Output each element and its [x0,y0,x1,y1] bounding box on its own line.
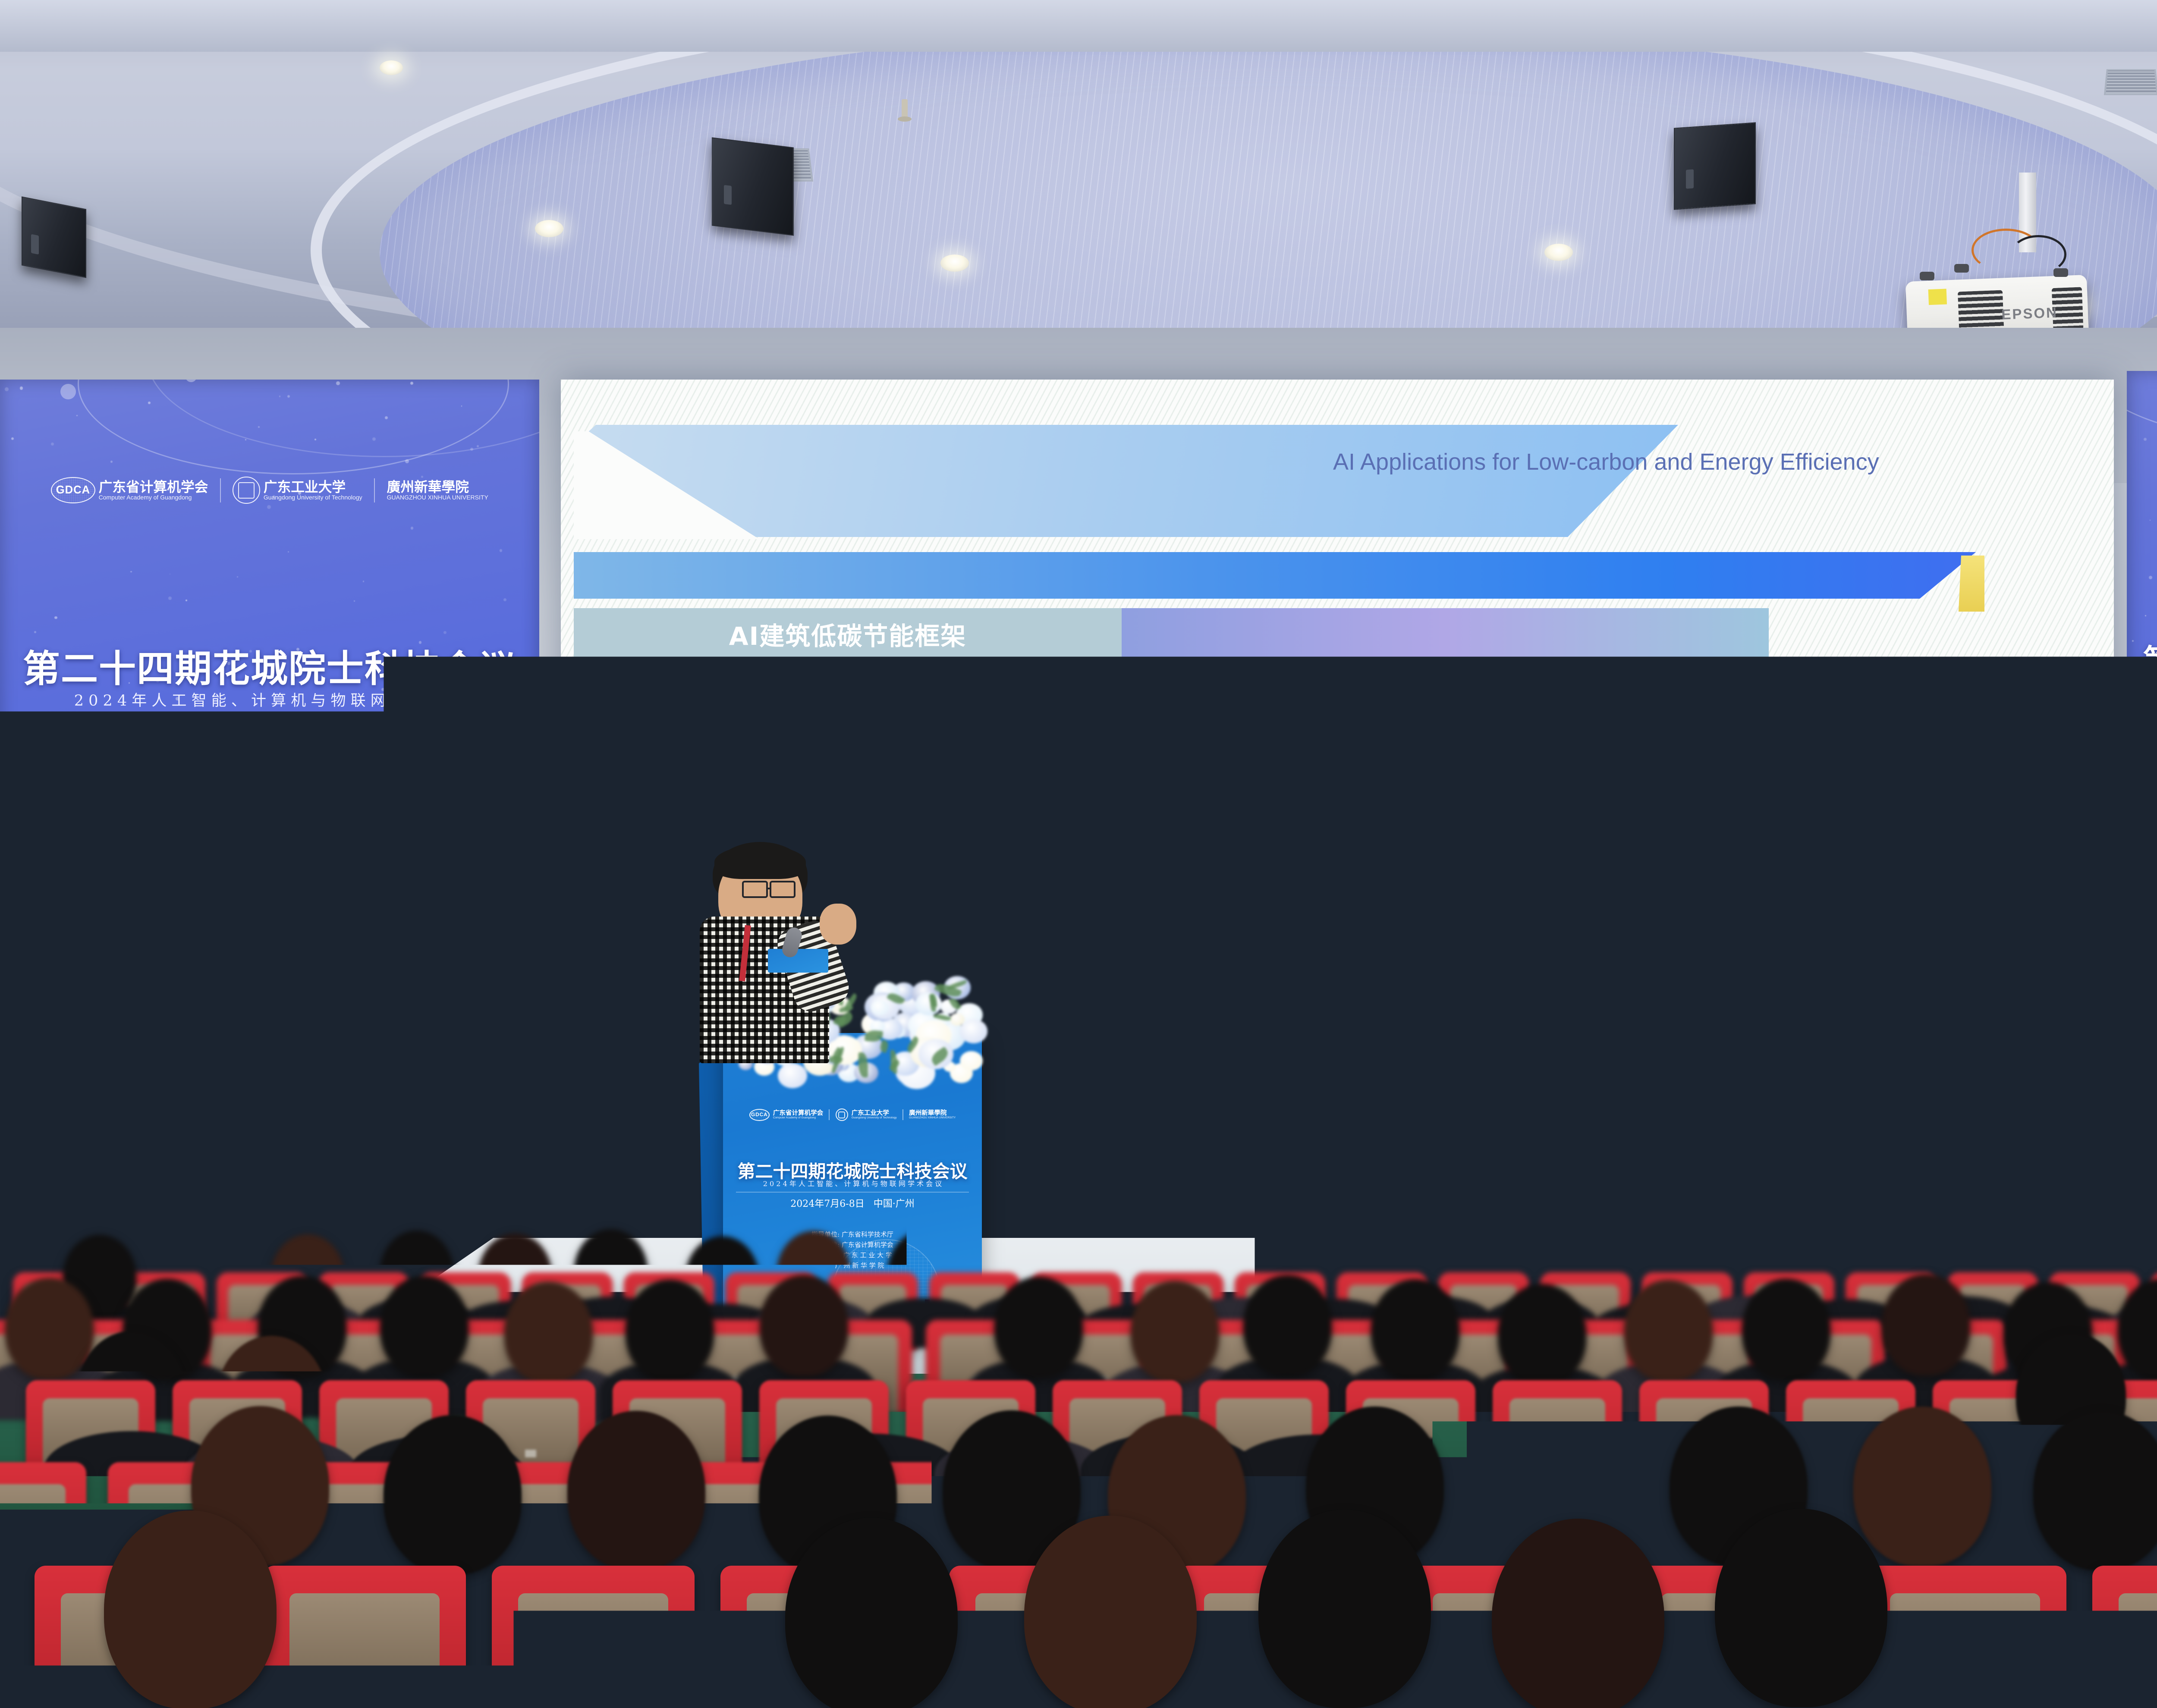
banner-title: 第二十四期花城院士科技会议 [2127,636,2157,680]
flower [960,1019,988,1043]
ceiling-speaker-icon [712,137,794,235]
agent-label: agent [1929,1014,1966,1029]
glasses-bridge [767,888,771,889]
nn-node [1726,811,1745,830]
out-to-agents-arrow-lower [1922,1146,1929,1152]
name-badge [768,949,828,973]
agent-arrow-in [1895,926,1901,933]
organizer-line: 主办单位: 广东省计算机学会 [2127,803,2157,821]
signal-t-wet: Twet [1098,817,1128,839]
partner-logo-text: 广东工业大学Guangdong University of Technology [264,480,362,501]
banner-date: 2024年7月6-8日 [134,736,288,760]
partner-logo: GDCA广东省计算机学会Computer Academy of Guangdon… [51,477,208,503]
speaker-person [677,832,902,1074]
podium-date: 2024年7月6-8日 [790,1199,864,1209]
nn-node [1758,782,1777,801]
audience-member-head [888,1231,961,1315]
banner-network-dot [60,384,76,399]
group-label-multi-agent: 多智能体决策与控制 [1607,919,1633,1105]
out-to-agents-h [1846,848,1926,849]
nn-node [1758,801,1777,820]
partner-name-en: Computer Academy of Guangdong [99,494,208,501]
organizer-line: 广 州 新 华 学 院 [0,875,539,897]
organizer-line: 承办单位: 广 东 工 业 大 学 [0,854,539,875]
banner-divider [2148,705,2157,706]
slide-section-chip: AI建筑低碳节能框架 [574,608,1769,660]
ceiling-downlight-icon [1544,244,1573,261]
partner-name-cn: 广东工业大学 [852,1110,897,1117]
nn-node [1758,820,1777,839]
state-swatch-pink [1320,1083,1391,1094]
organizer-line: 承办单位: 广 东 工 业 大 学 [2127,821,2157,839]
backdrop-banner-left: GDCA广东省计算机学会Computer Academy of Guangdon… [0,380,539,1268]
banner-divider [26,720,513,721]
reward-arrow [1398,1065,1404,1072]
flower [950,1013,965,1026]
backdrop-banner-right: GDCA广东省计算机学会Computer Academy of Guangdon… [2127,371,2157,1272]
audience-member-head [504,1282,593,1383]
audience-member-head [1024,1516,1197,1708]
partner-logo: GDCA广东省计算机学会Computer Academy of Guangdon… [749,1109,823,1121]
skyline-building [232,1044,242,1268]
state-swatch-blue [1309,1132,1380,1143]
logo-divider [902,1109,903,1121]
cls-arrow-energy [1094,1192,1100,1199]
epv-line [975,1119,1411,1121]
neural-network-box: 神经网络 [1107,871,1207,936]
ceiling-downlight-icon [940,254,969,272]
twet-line [1088,804,1089,858]
state-label-pv: 光伏发电 [1324,1100,1376,1119]
agent-line-in [1868,929,1898,931]
out-to-agents-line [1846,848,1848,896]
glasses-icon [770,881,796,898]
projector-brand-label: EPSON [2001,305,2058,323]
environment-label: 环境 [1786,962,1821,987]
skyline-building [367,1060,377,1268]
partner-name-cn: 廣州新華學院 [909,1110,956,1117]
ceiling-speaker-icon [22,196,86,278]
drl-output-upper: output [1827,796,1846,848]
st-line-upper [1566,815,1685,816]
signal-state-lower: 状态 s [1501,1152,1548,1175]
partner-logo-text: 广东工业大学Guangdong University of Technology [852,1110,897,1120]
organizer-line: 指导单位: 广东省科学技术厅 [0,811,539,832]
audience-area [0,1238,2157,1708]
partner-name-cn: 广东省计算机学会 [773,1110,823,1117]
logo-divider [829,1109,830,1121]
agent-label: agent [1929,1087,1966,1102]
podium-divider [736,1192,969,1193]
state-label-demand: 预测需求负荷 [1294,1151,1372,1170]
partner-logo: 广东工业大学Guangdong University of Technology [233,477,362,504]
gdut-seal-icon [233,477,260,504]
partner-name-en: GUANGZHOU XINHUA UNIVERSITY [909,1117,956,1120]
epv-arrow [1409,1116,1415,1123]
st1-line-upper [1594,768,1840,769]
state-line-upper [1506,919,1507,1022]
signal-cls-energy: CLs [1001,1175,1029,1193]
signal-cls-lower: CLs [1009,983,1038,1001]
banner-date-location: 2024年7月6-8日 中国·广州 [0,732,539,761]
group-label-building: 建筑环境 [764,763,843,792]
signal-st-rt-upper: St, rt [1596,824,1635,843]
ceiling-downlight-icon [535,220,563,237]
audience-member-head [1258,1510,1431,1708]
partner-name-cn: 广东工业大学 [264,480,362,494]
partner-logo: 广东工业大学Guangdong University of Technology [836,1108,897,1121]
auditorium-seat [492,1566,695,1708]
out-to-agents-arrow [1922,893,1929,899]
partner-logo: 廣州新華學院GUANGZHOU XINHUA UNIVERSITY [387,480,488,501]
flower [960,1051,983,1071]
city-skyline-graphic [0,940,539,1268]
auditorium-seat [263,1566,466,1708]
cls-arrow-upper [1102,908,1108,915]
audience-member-head [384,1415,522,1575]
partner-name-en: Guangdong University of Technology [852,1117,897,1120]
out-to-agents-v [1925,848,1926,899]
agent-ellipsis: ... [1941,1031,1954,1046]
audience-member-head [1882,1274,1970,1375]
partner-name-en: GUANGZHOU XINHUA UNIVERSITY [387,494,488,501]
banner-subtitle: 2 0 2 4 年 人 工 智 能 、 计 算 机 与 物 联 网 学 术 会 … [2127,677,2157,695]
slide-eyebrow-text: AI Applications for Low-carbon and Energ… [1333,449,1879,475]
st-arrow-upper [1682,812,1688,819]
partner-name-cn: 广东省计算机学会 [99,480,208,494]
gdca-logo-icon: GDCA [51,477,95,503]
slide-header-shape [574,425,1678,537]
cls-line-lower [975,979,1415,980]
sprinkler-icon [902,99,908,118]
slide-chip-label: AI建筑低碳节能框架 [729,616,966,652]
agent-line-out [1866,1018,1896,1019]
audience-member-head [1492,1519,1664,1708]
agent-arrow-out [1861,1015,1868,1022]
state-label-low-price-storage: 低价储电 [1320,1201,1372,1220]
state-swatch-blue [1307,938,1378,949]
partner-logo-text: 广东省计算机学会Computer Academy of Guangdong [773,1110,823,1120]
skyline-building [318,1024,329,1268]
partner-logo: 廣州新華學院GUANGZHOU XINHUA UNIVERSITY [909,1110,956,1120]
nn-node [1758,840,1777,859]
ceiling-speaker-icon [1674,122,1756,210]
organizer-line: 指导单位: 广东省科学技术厅 [2127,785,2157,803]
conference-photo-scene: EPSON GDCA广东省计算机学会Computer Academy of Gu… [0,0,2157,1708]
partner-name-cn: 廣州新華學院 [387,480,488,494]
banner-logo-row: GDCA广东省计算机学会Computer Academy of Guangdon… [2127,474,2157,497]
projector-foot [1920,272,1934,280]
drl-label-lower: DRL [1687,1201,1723,1220]
projector-label-sticker [1928,289,1947,305]
gdut-seal-icon [836,1108,848,1121]
neural-network-box: 神经网络 [1103,1156,1203,1221]
partner-logo-text: 广东省计算机学会Computer Academy of Guangdong [99,480,208,501]
projector-foot [1954,264,1969,273]
agent-ellipsis: ... [1943,958,1956,973]
logo-divider [220,478,221,502]
audience-member-head [5,1278,94,1379]
partner-name-en: Guangdong University of Technology [264,494,362,501]
auditorium-seat [2092,1566,2157,1708]
partner-logo-text: 廣州新華學院GUANGZHOU XINHUA UNIVERSITY [909,1110,956,1120]
controller-box-upper: 智能体（控制器） [1406,1007,1527,1063]
partner-name-en: Computer Academy of Guangdong [773,1117,823,1120]
group-label-state: 状态组合 [1322,759,1402,788]
nn-node [1792,796,1811,815]
city-skyline-graphic [2127,953,2157,1272]
audience-member-head [77,1331,187,1456]
air-vent-icon [2104,69,2157,95]
signal-e-pv: EPV [1178,1085,1208,1109]
state-swatch-pink [1307,826,1378,837]
agent-label: agent [1931,940,1968,955]
ceiling-downlight-icon [380,60,403,75]
banner-location: 中国·广州 [320,736,406,760]
sun-icon [1074,763,1113,802]
banner-title: 第二十四期花城院士科技会议 [0,638,539,692]
nn-node [1726,830,1745,849]
signal-state-upper: 状态 s [1497,899,1544,923]
glasses-icon [742,881,768,898]
state-vector-swatch [1482,880,1560,891]
slide-chip-left: AI建筑低碳节能框架 [574,608,1122,660]
env-to-drl-lower [1839,1065,1840,1203]
state-swatch-gold [1307,882,1378,893]
podium-logo-row: GDCA广东省计算机学会Computer Academy of Guangdon… [723,1108,982,1121]
organizer-line: 广 州 新 华 学 院 [2127,839,2157,857]
state-vector-swatch [1475,1132,1553,1143]
nn-node [1726,791,1745,810]
speaker-hair-top [714,845,806,879]
logo-divider [374,478,375,502]
env-in-line [1596,980,1756,981]
skyline-building [129,1028,140,1268]
banner-subtitle: 2 0 2 4 年 人 工 智 能 、 计 算 机 与 物 联 网 学 术 会 … [0,688,539,710]
slide-heading: 多智能体深度强化学习建筑能耗全局优化与决策 [794,677,1500,725]
drl-label-upper: DRL [1687,774,1723,793]
audience-member-head [785,1518,958,1708]
signal-cls-upper: CLs [1007,891,1036,908]
thermometer-icon [1050,768,1060,798]
slide-accent-yellow [1959,556,1984,612]
state-swatch-pink [1320,1184,1391,1195]
st1-arrow-upper [1590,765,1596,772]
partner-logo-text: 廣州新華學院GUANGZHOU XINHUA UNIVERSITY [387,480,488,501]
projector-foot [2053,268,2068,277]
podium-location: 中国·广州 [874,1199,915,1209]
slide-accent-bar [574,552,1976,599]
env-in-arrow [1754,977,1760,984]
speaker-hand [820,904,856,945]
nn-node [1792,819,1811,838]
slide-chip-right [1122,608,1769,660]
state-label-predicted-cooling: 预测下一时刻系统冷负荷 [1290,899,1432,918]
banner-date-location: 2024年7月6-8日 中国·广州 [2127,716,2157,740]
audience-member-head [567,1411,705,1570]
audience-member-head [626,1280,714,1381]
cls-line-energy [975,1195,1096,1196]
banner-logo-row: GDCA广东省计算机学会Computer Academy of Guangdon… [0,477,539,504]
cls-arrow-lower [1413,976,1419,983]
audience-member-head [104,1510,277,1708]
ceiling-band-top [0,0,2157,52]
organizer-line: 主办单位: 广东省计算机学会 [0,832,539,854]
banner-organizers: 指导单位: 广东省科学技术厅主办单位: 广东省计算机学会承办单位: 广 东 工 … [0,811,539,896]
twet-arrow [1085,856,1092,862]
banner-organizers: 指导单位: 广东省科学技术厅主办单位: 广东省计算机学会承办单位: 广 东 工 … [2127,785,2157,857]
cls-line-upper [975,911,1104,912]
audience-member-head [1853,1407,1991,1566]
drl-input-upper: input [1689,796,1708,856]
podium-date-location: 2024年7月6-8日 中国·广州 [723,1196,982,1210]
gdca-logo-icon: GDCA [749,1109,770,1121]
audience-member-head [1715,1509,1887,1707]
state-label-wetbulb: 户外湿球温度 [1303,843,1380,862]
st1-drop-upper [1839,768,1840,893]
nn-node [1758,1213,1777,1232]
audience-member-head [1562,1337,1672,1462]
state-label-realtime-cooling: 实时系统冷负荷 [1294,955,1385,974]
podium-subtitle: 2 0 2 4 年 人 工 智 能 、 计 算 机 与 物 联 网 学 术 会 … [723,1178,982,1188]
